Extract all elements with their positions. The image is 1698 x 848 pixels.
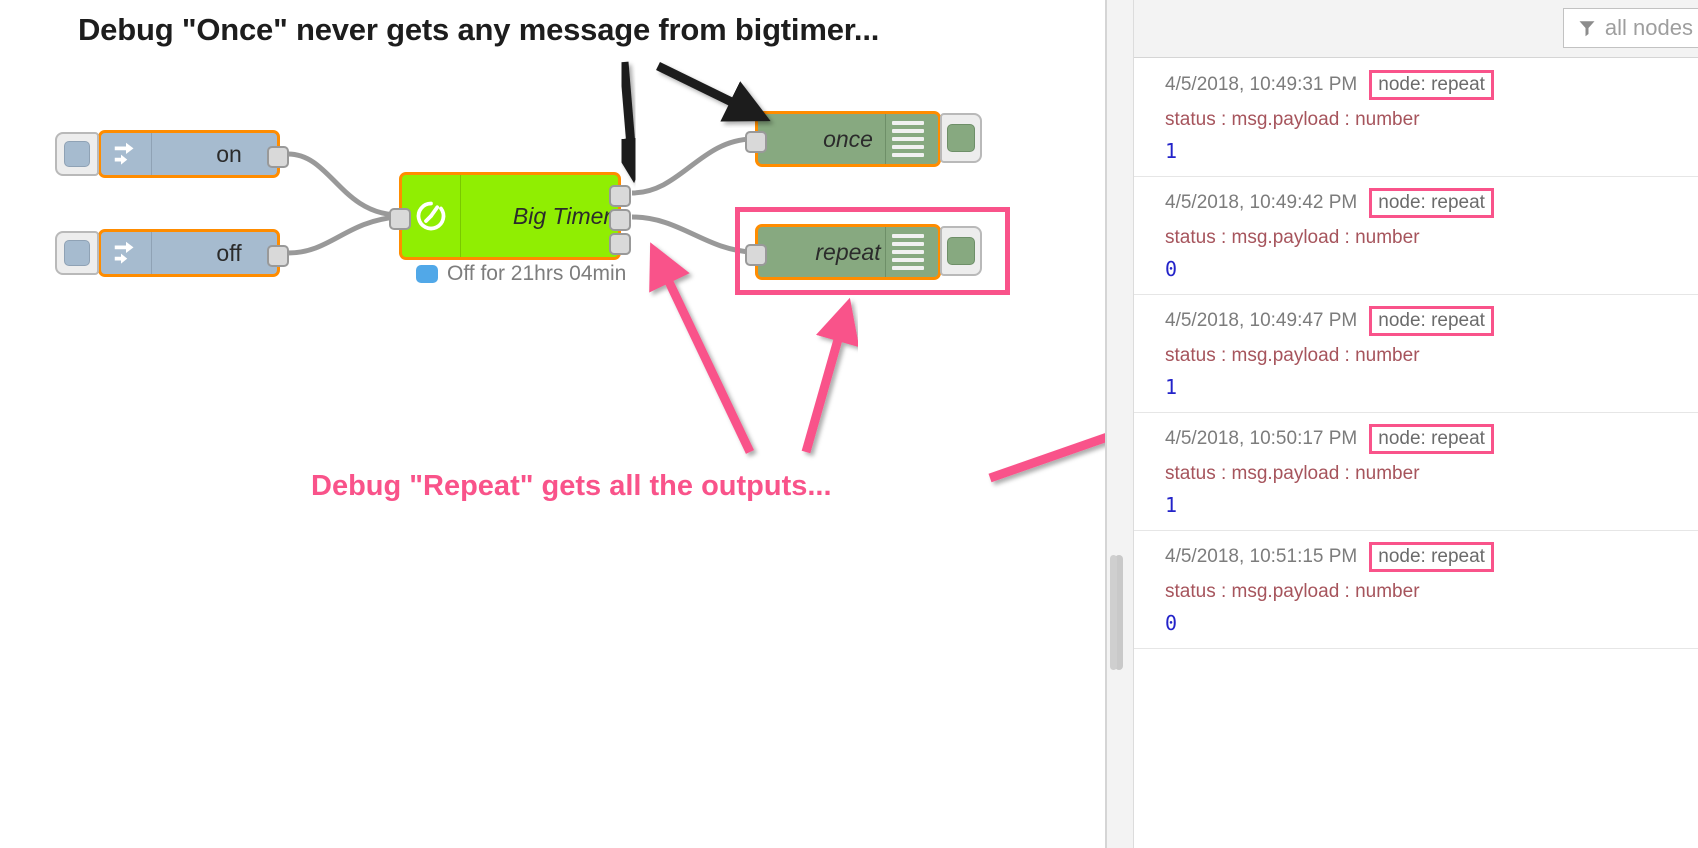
debug-message[interactable]: 4/5/2018, 10:50:17 PMnode: repeatstatus … (1134, 413, 1698, 531)
status-dot-icon (416, 265, 438, 283)
debug-message-time: 4/5/2018, 10:49:31 PM (1165, 74, 1357, 96)
debug-message-time: 4/5/2018, 10:49:47 PM (1165, 310, 1357, 332)
bigtimer-node[interactable]: Big Timer (399, 172, 621, 260)
output-port[interactable] (267, 146, 289, 168)
debug-message-node-badge[interactable]: node: repeat (1369, 306, 1494, 336)
debug-message-topic: status : msg.payload : number (1165, 581, 1698, 603)
inject-button-on[interactable] (55, 132, 99, 176)
debug-message-time: 4/5/2018, 10:50:17 PM (1165, 428, 1357, 450)
input-port[interactable] (745, 244, 767, 266)
bigtimer-status: Off for 21hrs 04min (416, 262, 626, 286)
annotation-note-pink: Debug "Repeat" gets all the outputs... (311, 470, 832, 503)
debug-message-topic: status : msg.payload : number (1165, 345, 1698, 367)
input-port[interactable] (389, 208, 411, 230)
debug-node-repeat[interactable]: repeat (755, 224, 941, 280)
bigtimer-status-text: Off for 21hrs 04min (447, 262, 626, 286)
output-port-3[interactable] (609, 233, 631, 255)
flow-canvas[interactable]: Debug "Once" never gets any message from… (0, 0, 1105, 848)
debug-message-topic: status : msg.payload : number (1165, 109, 1698, 131)
debug-message-topic: status : msg.payload : number (1165, 227, 1698, 249)
funnel-icon (1578, 19, 1596, 37)
debug-toggle-repeat[interactable] (940, 226, 982, 276)
debug-sidebar-header: all nodes (1134, 0, 1698, 58)
debug-message-value: 0 (1165, 611, 1698, 635)
debug-message-node-badge[interactable]: node: repeat (1369, 542, 1494, 572)
inject-node-on[interactable]: on (98, 130, 280, 178)
debug-message-node-badge[interactable]: node: repeat (1369, 188, 1494, 218)
debug-message[interactable]: 4/5/2018, 10:49:42 PMnode: repeatstatus … (1134, 177, 1698, 295)
filter-label: all nodes (1605, 15, 1693, 41)
debug-message-value: 1 (1165, 493, 1698, 517)
debug-message[interactable]: 4/5/2018, 10:49:31 PMnode: repeatstatus … (1134, 59, 1698, 177)
filter-all-nodes-button[interactable]: all nodes (1563, 8, 1698, 48)
inject-node-off[interactable]: off (98, 229, 280, 277)
input-port[interactable] (745, 131, 767, 153)
debug-toggle-once[interactable] (940, 113, 982, 163)
debug-sidebar[interactable]: all nodes 4/5/2018, 10:49:31 PMnode: rep… (1105, 0, 1698, 848)
output-port-2[interactable] (609, 209, 631, 231)
sidebar-gutter (1107, 0, 1134, 848)
debug-message[interactable]: 4/5/2018, 10:49:47 PMnode: repeatstatus … (1134, 295, 1698, 413)
debug-lines-icon (892, 121, 924, 157)
debug-message-list[interactable]: 4/5/2018, 10:49:31 PMnode: repeatstatus … (1134, 59, 1698, 848)
annotation-title-black: Debug "Once" never gets any message from… (78, 12, 879, 48)
output-port-1[interactable] (609, 185, 631, 207)
output-port[interactable] (267, 245, 289, 267)
debug-message-node-badge[interactable]: node: repeat (1369, 424, 1494, 454)
debug-message-topic: status : msg.payload : number (1165, 463, 1698, 485)
debug-message-value: 0 (1165, 257, 1698, 281)
inject-button-off[interactable] (55, 231, 99, 275)
debug-message-value: 1 (1165, 375, 1698, 399)
debug-message-value: 1 (1165, 139, 1698, 163)
debug-lines-icon (892, 234, 924, 270)
debug-message[interactable]: 4/5/2018, 10:51:15 PMnode: repeatstatus … (1134, 531, 1698, 649)
debug-message-time: 4/5/2018, 10:51:15 PM (1165, 546, 1357, 568)
debug-node-once[interactable]: once (755, 111, 941, 167)
canvas-scrollbar[interactable] (1110, 555, 1117, 670)
debug-message-time: 4/5/2018, 10:49:42 PM (1165, 192, 1357, 214)
debug-message-node-badge[interactable]: node: repeat (1369, 70, 1494, 100)
